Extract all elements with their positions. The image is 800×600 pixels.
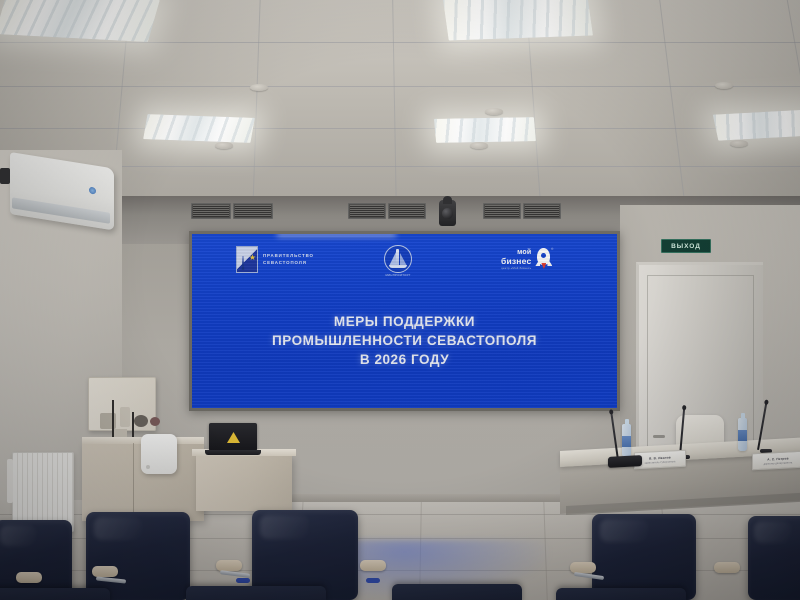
chair-seat[interactable]: [186, 586, 326, 600]
smoke-detector-icon: [715, 82, 733, 89]
ceiling-light-panel: [143, 114, 255, 143]
my-business-word2: бизнес: [501, 257, 531, 266]
laptop[interactable]: [205, 423, 261, 455]
ventilation-grille: [523, 203, 561, 219]
led-video-wall[interactable]: ПРАВИТЕЛЬСТВО СЕВАСТОПОЛЯ МИНПРОМТОРГ мо…: [189, 231, 620, 411]
smoke-detector-icon: [470, 142, 488, 149]
equipment-box: [141, 434, 177, 474]
ceiling-light-panel: [0, 0, 160, 42]
my-business-subtitle: центр «Мой бизнес»: [501, 267, 531, 270]
my-business-word1: мой: [517, 249, 531, 256]
nameplate-title: заместитель Губернатора: [645, 460, 676, 465]
ceiling-light-panel: [713, 109, 800, 140]
ceiling-camera-icon: [439, 200, 456, 226]
chair-seat[interactable]: [556, 588, 686, 600]
ventilation-grille: [191, 203, 231, 219]
slide-title-line-3: В 2026 ГОДУ: [192, 350, 617, 369]
smoke-detector-icon: [250, 84, 268, 91]
chair-armrest: [16, 572, 42, 583]
government-logo-line1: ПРАВИТЕЛЬСТВО: [263, 254, 314, 258]
audience-chair[interactable]: [748, 516, 800, 600]
water-bottle[interactable]: [738, 418, 747, 451]
presentation-slide: ПРАВИТЕЛЬСТВО СЕВАСТОПОЛЯ МИНПРОМТОРГ мо…: [192, 234, 617, 408]
chair-armrest: [216, 560, 242, 571]
slide-title-line-1: МЕРЫ ПОДДЕРЖКИ: [192, 312, 617, 331]
audience-chair[interactable]: [86, 512, 190, 600]
chair-armrest: [570, 562, 596, 573]
chair-accent: [366, 578, 380, 583]
government-logo-line2: СЕВАСТОПОЛЯ: [263, 261, 314, 265]
ventilation-grille: [348, 203, 386, 219]
ac-indicator-light: [89, 187, 96, 195]
nameplate-title: директор департамента: [764, 461, 793, 466]
conference-room-photo: ПРАВИТЕЛЬСТВО СЕВАСТОПОЛЯ МИНПРОМТОРГ мо…: [0, 0, 800, 600]
ministry-logo: МИНПРОМТОРГ: [384, 245, 412, 273]
slide-title: МЕРЫ ПОДДЕРЖКИ ПРОМЫШЛЕННОСТИ СЕВАСТОПОЛ…: [192, 312, 617, 369]
nameplate: А. С. Петров директор департамента: [752, 451, 800, 471]
remote-control[interactable]: [608, 455, 642, 468]
my-business-logo: мой бизнес центр «Мой бизнес» ®: [501, 248, 552, 270]
smoke-detector-icon: [730, 140, 748, 147]
door-handle[interactable]: [653, 435, 665, 438]
chair-armrest: [360, 560, 386, 571]
chair-armrest: [714, 562, 740, 573]
chair-seat[interactable]: [0, 588, 110, 600]
ventilation-grille: [388, 203, 426, 219]
rocket-icon: ®: [535, 248, 552, 270]
slide-title-line-2: ПРОМЫШЛЕННОСТИ СЕВАСТОПОЛЯ: [192, 331, 617, 350]
sevastopol-coat-of-arms-icon: [236, 246, 258, 273]
laptop-desk: [196, 455, 292, 511]
ceiling-light-panel: [434, 117, 536, 143]
chair-accent: [236, 578, 250, 583]
exit-sign: ВЫХОД: [661, 239, 711, 253]
smoke-detector-icon: [215, 142, 233, 149]
smoke-detector-icon: [485, 108, 503, 115]
wall-sensor-icon: [0, 168, 10, 184]
exit-sign-label: ВЫХОД: [671, 243, 701, 250]
government-logo: ПРАВИТЕЛЬСТВО СЕВАСТОПОЛЯ: [236, 246, 314, 273]
slide-logo-row: ПРАВИТЕЛЬСТВО СЕВАСТОПОЛЯ МИНПРОМТОРГ мо…: [192, 245, 617, 279]
ministry-logo-caption: МИНПРОМТОРГ: [381, 273, 415, 277]
water-bottle[interactable]: [622, 424, 631, 457]
ventilation-grille: [483, 203, 521, 219]
ceiling-light-panel: [442, 0, 593, 41]
chair-armrest: [92, 566, 118, 577]
ventilation-grille: [233, 203, 273, 219]
desk-equipment: [100, 405, 162, 431]
chair-seat[interactable]: [392, 584, 522, 600]
